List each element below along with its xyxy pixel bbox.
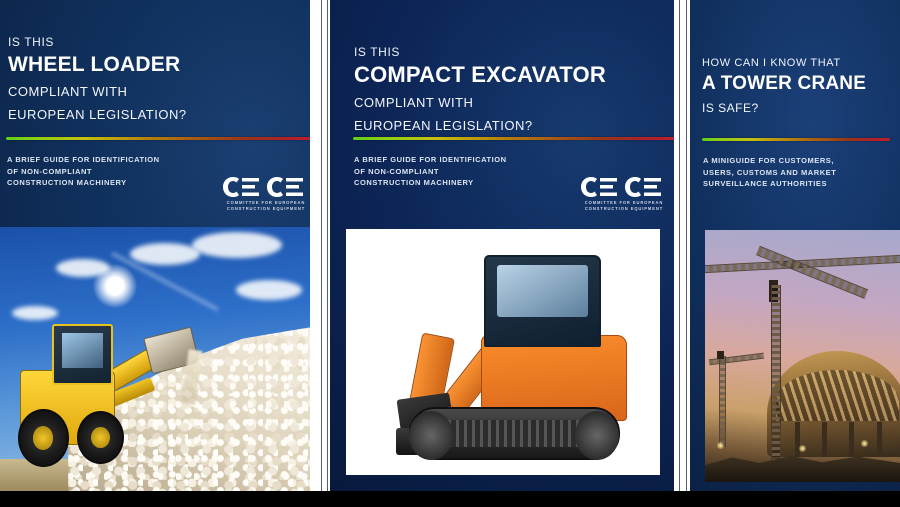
cloud-shape [236,280,302,300]
panel-gap-2 [674,0,690,491]
crane-mast-secondary [719,356,726,447]
accent-rule-2 [353,137,675,140]
cece-logo-2[interactable]: COMMITTEE FOR EUROPEAN CONSTRUCTION EQUI… [580,176,668,212]
panel-divider-line [679,0,680,491]
title-block-3: HOW CAN I KNOW THAT A TOWER CRANE IS SAF… [702,56,898,116]
cece-wordmark-icon [580,176,668,198]
cover-subcopy-1: A BRIEF GUIDE FOR IDENTIFICATION OF NON-… [7,154,197,189]
cece-wordmark-icon [222,176,310,198]
site-light [799,445,806,452]
site-light [717,442,724,449]
crane-cab-secondary [717,351,724,359]
cloud-shape [130,243,200,265]
title-block-1: IS THIS WHEEL LOADER COMPLIANT WITH EURO… [8,34,308,123]
excavator-cab [484,255,601,348]
cover-subcopy-3: A MINIGUIDE FOR CUSTOMERS, USERS, CUSTOM… [703,155,893,190]
cover-eyebrow-2: IS THIS [354,44,674,60]
excavator-machine [346,229,660,475]
loader-wheel-front [77,411,124,464]
stadium-leg [795,422,800,457]
cover-subhead-a-1: COMPLIANT WITH [8,83,308,101]
loader-wheel-rear [18,409,69,467]
cover-subcopy-2: A BRIEF GUIDE FOR IDENTIFICATION OF NON-… [354,154,554,189]
cover-photo-tower-crane [705,230,900,482]
panel-divider-line [327,0,328,491]
excavator-idler-rear [575,411,619,460]
cover-subhead-a-2: COMPLIANT WITH [354,94,674,112]
cece-logo-1[interactable]: COMMITTEE FOR EUROPEAN CONSTRUCTION EQUI… [222,176,310,212]
excavator-idler-front [409,411,453,460]
stadium-leg [822,422,827,457]
cover-eyebrow-1: IS THIS [8,34,308,50]
cover-compact-excavator[interactable]: IS THIS COMPACT EXCAVATOR COMPLIANT WITH… [328,0,678,491]
sun-glow [93,264,137,308]
panel-divider-line [686,0,687,491]
loader-cab [52,324,114,385]
stadium-leg [849,422,854,457]
cover-headline-1: WHEEL LOADER [8,53,308,76]
cover-subhead-b-1: EUROPEAN LEGISLATION? [8,106,308,124]
accent-rule-3 [702,138,890,141]
panel-divider-line [321,0,322,491]
cover-photo-compact-excavator [346,229,660,475]
cover-subhead-a-3: IS SAFE? [702,100,898,116]
cover-headline-2: COMPACT EXCAVATOR [354,63,674,87]
cover-eyebrow-3: HOW CAN I KNOW THAT [702,56,898,71]
bottom-black-bar [0,491,900,507]
wheel-loader-machine [12,309,192,467]
stadium-leg [877,422,882,457]
cover-subhead-b-2: EUROPEAN LEGISLATION? [354,117,674,135]
crane-mast-main [771,285,781,461]
cover-wheel-loader[interactable]: IS THIS WHEEL LOADER COMPLIANT WITH EURO… [0,0,322,491]
accent-rule-1 [6,137,312,140]
cover-tower-crane[interactable]: HOW CAN I KNOW THAT A TOWER CRANE IS SAF… [688,0,900,491]
cover-photo-wheel-loader [0,227,310,491]
cover-headline-3: A TOWER CRANE [702,74,898,95]
title-block-2: IS THIS COMPACT EXCAVATOR COMPLIANT WITH… [354,44,674,134]
cece-tagline-1: COMMITTEE FOR EUROPEAN CONSTRUCTION EQUI… [222,200,310,212]
site-light [861,440,868,447]
cece-tagline-2: COMMITTEE FOR EUROPEAN CONSTRUCTION EQUI… [580,200,668,212]
screenshot-stage: IS THIS WHEEL LOADER COMPLIANT WITH EURO… [0,0,900,507]
